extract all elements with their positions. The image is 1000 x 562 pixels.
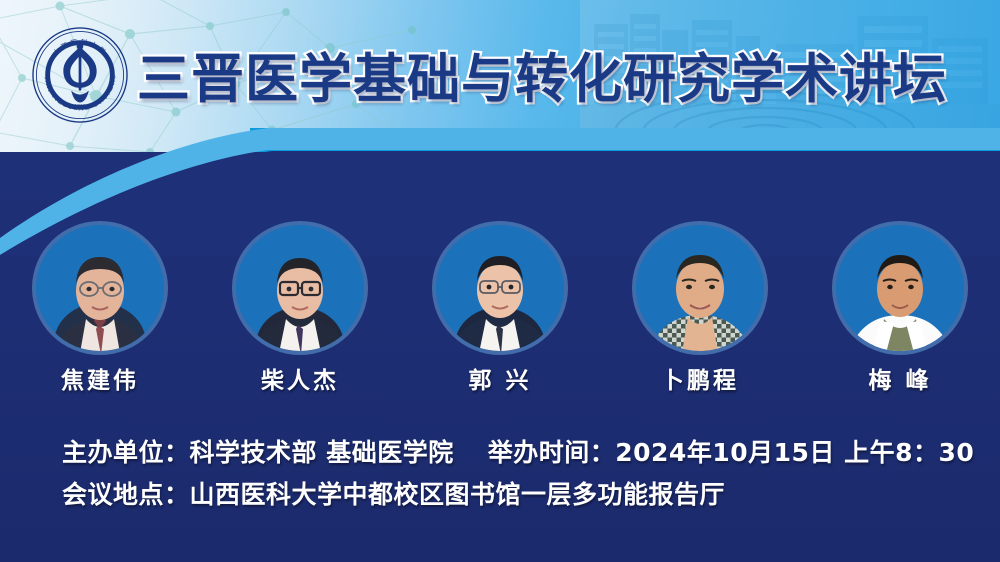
portrait-guo-xing xyxy=(436,225,564,351)
time-label: 举办时间： xyxy=(488,438,616,467)
event-details: 主办单位：科学技术部 基础医学院举办时间：2024年10月15日 上午8：30 … xyxy=(0,432,1000,516)
portrait-jiao-jianwei xyxy=(36,225,164,351)
speaker-card[interactable]: 柴人杰 xyxy=(200,225,400,395)
speaker-card[interactable]: 焦建伟 xyxy=(0,225,200,395)
speaker-name: 焦建伟 xyxy=(61,361,139,395)
speaker-name: 卜鹏程 xyxy=(661,361,739,395)
portrait-chai-renjie xyxy=(236,225,364,351)
speaker-card[interactable]: 卜鹏程 xyxy=(600,225,800,395)
organizer-label: 主办单位： xyxy=(62,438,190,467)
speaker-card[interactable]: 郭 兴 xyxy=(400,225,600,395)
poster: MEDICAL 山西医科大学 SH xyxy=(0,0,1000,562)
speaker-name: 郭 兴 xyxy=(468,361,531,395)
portrait-mei-feng xyxy=(836,225,964,351)
portrait-bu-pengcheng xyxy=(636,225,764,351)
speaker-row: 焦建伟 xyxy=(0,225,1000,395)
venue-label: 会议地点： xyxy=(62,480,190,509)
speaker-card[interactable]: 梅 峰 xyxy=(800,225,1000,395)
speaker-name: 柴人杰 xyxy=(261,361,339,395)
event-details-line-1: 主办单位：科学技术部 基础医学院举办时间：2024年10月15日 上午8：30 xyxy=(62,432,1000,474)
speaker-name: 梅 峰 xyxy=(868,361,931,395)
time-value: 2024年10月15日 上午8：30 xyxy=(615,438,974,467)
organizer-value: 科学技术部 基础医学院 xyxy=(190,438,454,467)
page-title-text: 三晋医学基础与转化研究学术讲坛 xyxy=(137,37,947,113)
page-title: 三晋医学基础与转化研究学术讲坛 xyxy=(137,26,937,124)
venue-value: 山西医科大学中都校区图书馆一层多功能报告厅 xyxy=(190,480,726,509)
event-details-line-2: 会议地点：山西医科大学中都校区图书馆一层多功能报告厅 xyxy=(62,474,1000,516)
logo-year: 1919 xyxy=(74,103,86,109)
shanxi-medical-university-logo: 山西医科大学 SHANXI MEDICAL UNIVERSITY 1919 xyxy=(31,26,129,124)
